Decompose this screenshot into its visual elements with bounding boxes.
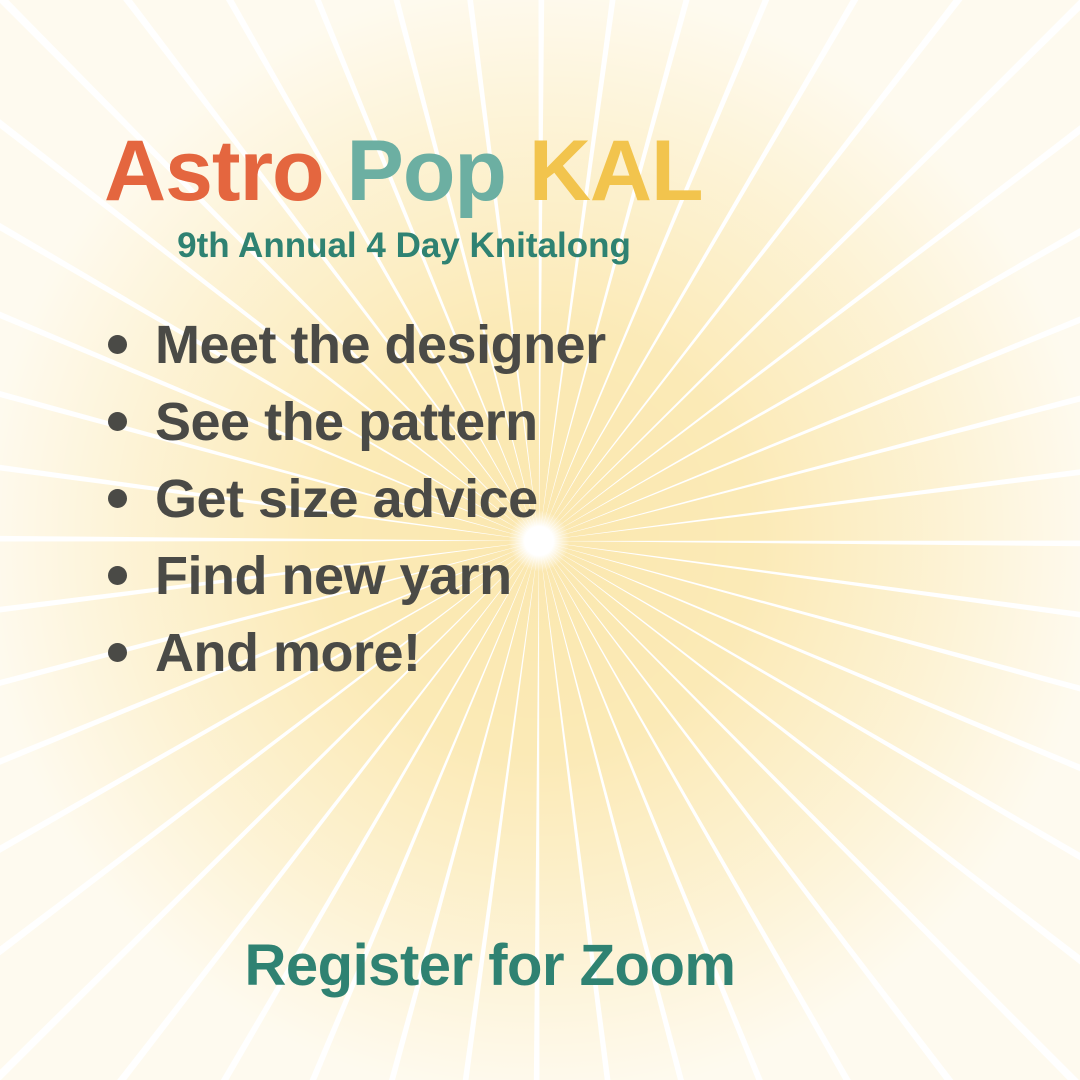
list-item: Find new yarn	[108, 537, 708, 614]
bullet-dot-icon	[108, 566, 127, 585]
page-subtitle: 9th Annual 4 Day Knitalong	[104, 226, 704, 266]
list-item: And more!	[108, 614, 708, 691]
title-block: Astro Pop KAL 9th Annual 4 Day Knitalong	[104, 128, 724, 266]
list-item-label: Meet the designer	[155, 314, 606, 376]
list-item-label: See the pattern	[155, 391, 538, 453]
bullet-dot-icon	[108, 489, 127, 508]
title-word-astro: Astro	[104, 123, 324, 219]
bullet-dot-icon	[108, 335, 127, 354]
register-for-zoom-link[interactable]: Register for Zoom	[245, 932, 736, 999]
poster-canvas: olive KNITS ® Astro Pop KAL 9th Annual 4…	[0, 0, 1080, 1080]
list-item: Get size advice	[108, 460, 708, 537]
list-item: See the pattern	[108, 383, 708, 460]
list-item-label: Find new yarn	[155, 545, 512, 607]
list-item: Meet the designer	[108, 306, 708, 383]
bullet-dot-icon	[108, 412, 127, 431]
bullet-dot-icon	[108, 643, 127, 662]
benefits-list: Meet the designer See the pattern Get si…	[108, 306, 708, 691]
cta-block[interactable]: Register for Zoom	[0, 932, 980, 999]
list-item-label: Get size advice	[155, 468, 538, 530]
list-item-label: And more!	[155, 622, 421, 684]
page-title: Astro Pop KAL	[104, 128, 724, 214]
title-word-kal: KAL	[529, 123, 703, 219]
title-word-pop: Pop	[346, 123, 505, 219]
